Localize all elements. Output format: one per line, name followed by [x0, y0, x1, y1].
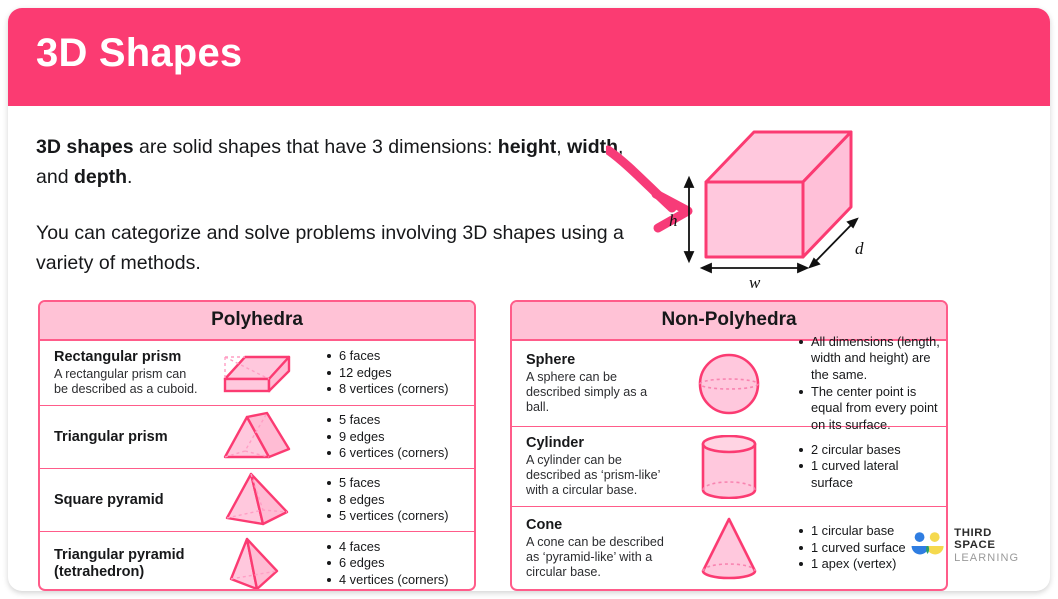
intro-text-rest: are solid shapes that have 3 dimensions:	[134, 136, 498, 158]
shape-name: Triangular prism	[54, 429, 199, 446]
shape-name-cell: Square pyramid	[40, 492, 207, 509]
table-row: Triangular prism 5 faces 9 edges 6 verti…	[40, 406, 474, 469]
facts-list: 4 faces 6 edges 4 vertices (corners)	[311, 539, 474, 589]
fact-item: 5 vertices (corners)	[327, 508, 470, 525]
logo-wordmark: THIRD SPACE LEARNING	[954, 528, 1028, 564]
facts-list: 6 faces 12 edges 8 vertices (corners)	[311, 348, 474, 398]
width-label: w	[749, 273, 761, 292]
fact-item: 8 edges	[327, 492, 470, 509]
cuboid-diagram: h w d	[606, 112, 946, 292]
fact-item: 2 circular bases	[799, 442, 942, 459]
fact-item: 6 edges	[327, 555, 470, 572]
cylinder-icon	[679, 435, 779, 499]
infographic-card: 3D Shapes 3D shapes are solid shapes tha…	[8, 8, 1050, 591]
brand-logo: THIRD SPACE LEARNING	[908, 525, 1028, 567]
intro-text: 3D shapes are solid shapes that have 3 d…	[36, 132, 626, 278]
intro-period: .	[127, 166, 132, 188]
shape-facts-cell: 5 faces 9 edges 6 vertices (corners)	[307, 412, 474, 462]
shape-name: Rectangular prism	[54, 349, 199, 366]
triangular-prism-icon	[207, 409, 307, 465]
shape-name: Square pyramid	[54, 492, 199, 509]
width-dimension-arrow	[702, 264, 807, 272]
fact-item: 6 vertices (corners)	[327, 445, 470, 462]
table-row: Sphere A sphere can be described simply …	[512, 341, 946, 427]
shape-name-cell: Sphere A sphere can be described simply …	[512, 352, 679, 415]
table-row: Cylinder A cylinder can be described as …	[512, 427, 946, 507]
page-header: 3D Shapes	[8, 8, 1050, 106]
height-label: h	[669, 211, 678, 230]
shape-facts-cell: 4 faces 6 edges 4 vertices (corners)	[307, 539, 474, 589]
height-dimension-arrow	[685, 178, 693, 261]
shape-name-cell: Cylinder A cylinder can be described as …	[512, 435, 679, 498]
intro-bold-3d-shapes: 3D shapes	[36, 136, 134, 158]
fact-item: 5 faces	[327, 475, 470, 492]
tetrahedron-icon	[207, 535, 307, 592]
intro-paragraph-1: 3D shapes are solid shapes that have 3 d…	[36, 132, 626, 192]
fact-item: The center point is equal from every poi…	[799, 384, 942, 434]
table-row: Cone A cone can be described as ‘pyramid…	[512, 507, 946, 589]
facts-list: 5 faces 9 edges 6 vertices (corners)	[311, 412, 474, 462]
rectangular-prism-icon	[207, 347, 307, 399]
table-row: Square pyramid 5 faces 8 edges 5 vertice…	[40, 469, 474, 532]
shape-facts-cell: All dimensions (length, width and height…	[779, 334, 946, 434]
facts-list: 5 faces 8 edges 5 vertices (corners)	[311, 475, 474, 525]
intro-bold-depth: depth	[74, 166, 127, 188]
shape-name: Cylinder	[526, 435, 671, 452]
shape-name-cell: Cone A cone can be described as ‘pyramid…	[512, 517, 679, 580]
intro-bold-height: height	[498, 136, 557, 158]
shape-name-cell: Rectangular prism A rectangular prism ca…	[40, 349, 207, 397]
shape-name-cell: Triangular pyramid (tetrahedron)	[40, 547, 207, 581]
shape-description: A sphere can be described simply as a ba…	[526, 370, 671, 415]
intro-sep-1: ,	[556, 136, 567, 158]
fact-item: 9 edges	[327, 429, 470, 446]
shape-name: Sphere	[526, 352, 671, 369]
cuboid-shape	[706, 132, 851, 257]
sphere-icon	[679, 351, 779, 417]
depth-label: d	[855, 239, 864, 258]
table-row: Triangular pyramid (tetrahedron) 4 faces…	[40, 532, 474, 591]
fact-item: 1 curved lateral surface	[799, 458, 942, 491]
shape-description: A cone can be described as ‘pyramid-like…	[526, 535, 671, 580]
polyhedra-table: Polyhedra Rectangular prism A rectangula…	[38, 300, 476, 591]
facts-list: All dimensions (length, width and height…	[783, 334, 946, 434]
shape-description: A cylinder can be described as ‘prism-li…	[526, 453, 671, 498]
logo-line-2: LEARNING	[954, 553, 1028, 564]
page-title: 3D Shapes	[36, 31, 242, 76]
polyhedra-table-heading: Polyhedra	[40, 302, 474, 341]
shape-facts-cell: 5 faces 8 edges 5 vertices (corners)	[307, 475, 474, 525]
third-space-learning-mark-icon	[908, 529, 947, 563]
shape-name: Cone	[526, 517, 671, 534]
square-pyramid-icon	[207, 470, 307, 530]
fact-item: All dimensions (length, width and height…	[799, 334, 942, 384]
shape-description: A rectangular prism can be described as …	[54, 367, 199, 397]
fact-item: 6 faces	[327, 348, 470, 365]
fact-item: 4 vertices (corners)	[327, 572, 470, 589]
shape-name-cell: Triangular prism	[40, 429, 207, 446]
cone-icon	[679, 515, 779, 581]
non-polyhedra-table: Non-Polyhedra Sphere A sphere can be des…	[510, 300, 948, 591]
shape-name: Triangular pyramid (tetrahedron)	[54, 547, 199, 581]
intro-paragraph-2: You can categorize and solve problems in…	[36, 218, 626, 278]
table-row: Rectangular prism A rectangular prism ca…	[40, 341, 474, 406]
shape-facts-cell: 6 faces 12 edges 8 vertices (corners)	[307, 348, 474, 398]
facts-list: 2 circular bases 1 curved lateral surfac…	[783, 442, 946, 492]
fact-item: 5 faces	[327, 412, 470, 429]
fact-item: 4 faces	[327, 539, 470, 556]
logo-line-1: THIRD SPACE	[954, 528, 1028, 551]
fact-item: 8 vertices (corners)	[327, 381, 470, 398]
fact-item: 12 edges	[327, 365, 470, 382]
shape-facts-cell: 2 circular bases 1 curved lateral surfac…	[779, 442, 946, 492]
